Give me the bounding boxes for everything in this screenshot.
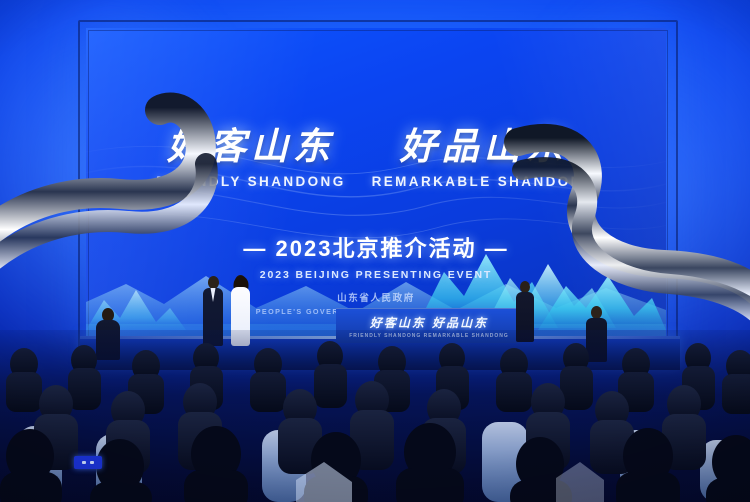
event-stage-photo: 好客山东 FRIENDLY SHANDONG 好品山东 REMARKABLE S…	[0, 0, 750, 502]
main-title-block: 好客山东 FRIENDLY SHANDONG 好品山东 REMARKABLE S…	[86, 128, 666, 189]
event-subtitle-block: — 2023北京推介活动 — 2023 BEIJING PRESENTING E…	[86, 231, 666, 281]
title-friendly-shandong: 好客山东 FRIENDLY SHANDONG	[156, 128, 345, 189]
podium-banner-cn: 好客山东 好品山东	[370, 314, 488, 331]
chair-badge-dot-1	[82, 461, 86, 464]
title-en-1: FRIENDLY SHANDONG	[156, 174, 345, 189]
organizer-cn: 山东省人民政府	[86, 290, 666, 304]
title-cn-2: 好品山东	[400, 128, 568, 165]
title-remarkable-shandong: 好品山东 REMARKABLE SHANDONG	[372, 128, 596, 189]
audience-silhouettes	[0, 330, 750, 502]
title-cn-1: 好客山东	[167, 128, 335, 165]
event-line-en: 2023 BEIJING PRESENTING EVENT	[86, 269, 666, 281]
event-line-cn: — 2023北京推介活动 —	[86, 231, 666, 263]
host-male-shirt	[211, 288, 216, 302]
audience-area	[0, 330, 750, 502]
title-en-2: REMARKABLE SHANDONG	[372, 174, 596, 189]
chair-badge-dot-2	[90, 461, 94, 464]
chair-badge	[74, 456, 102, 469]
